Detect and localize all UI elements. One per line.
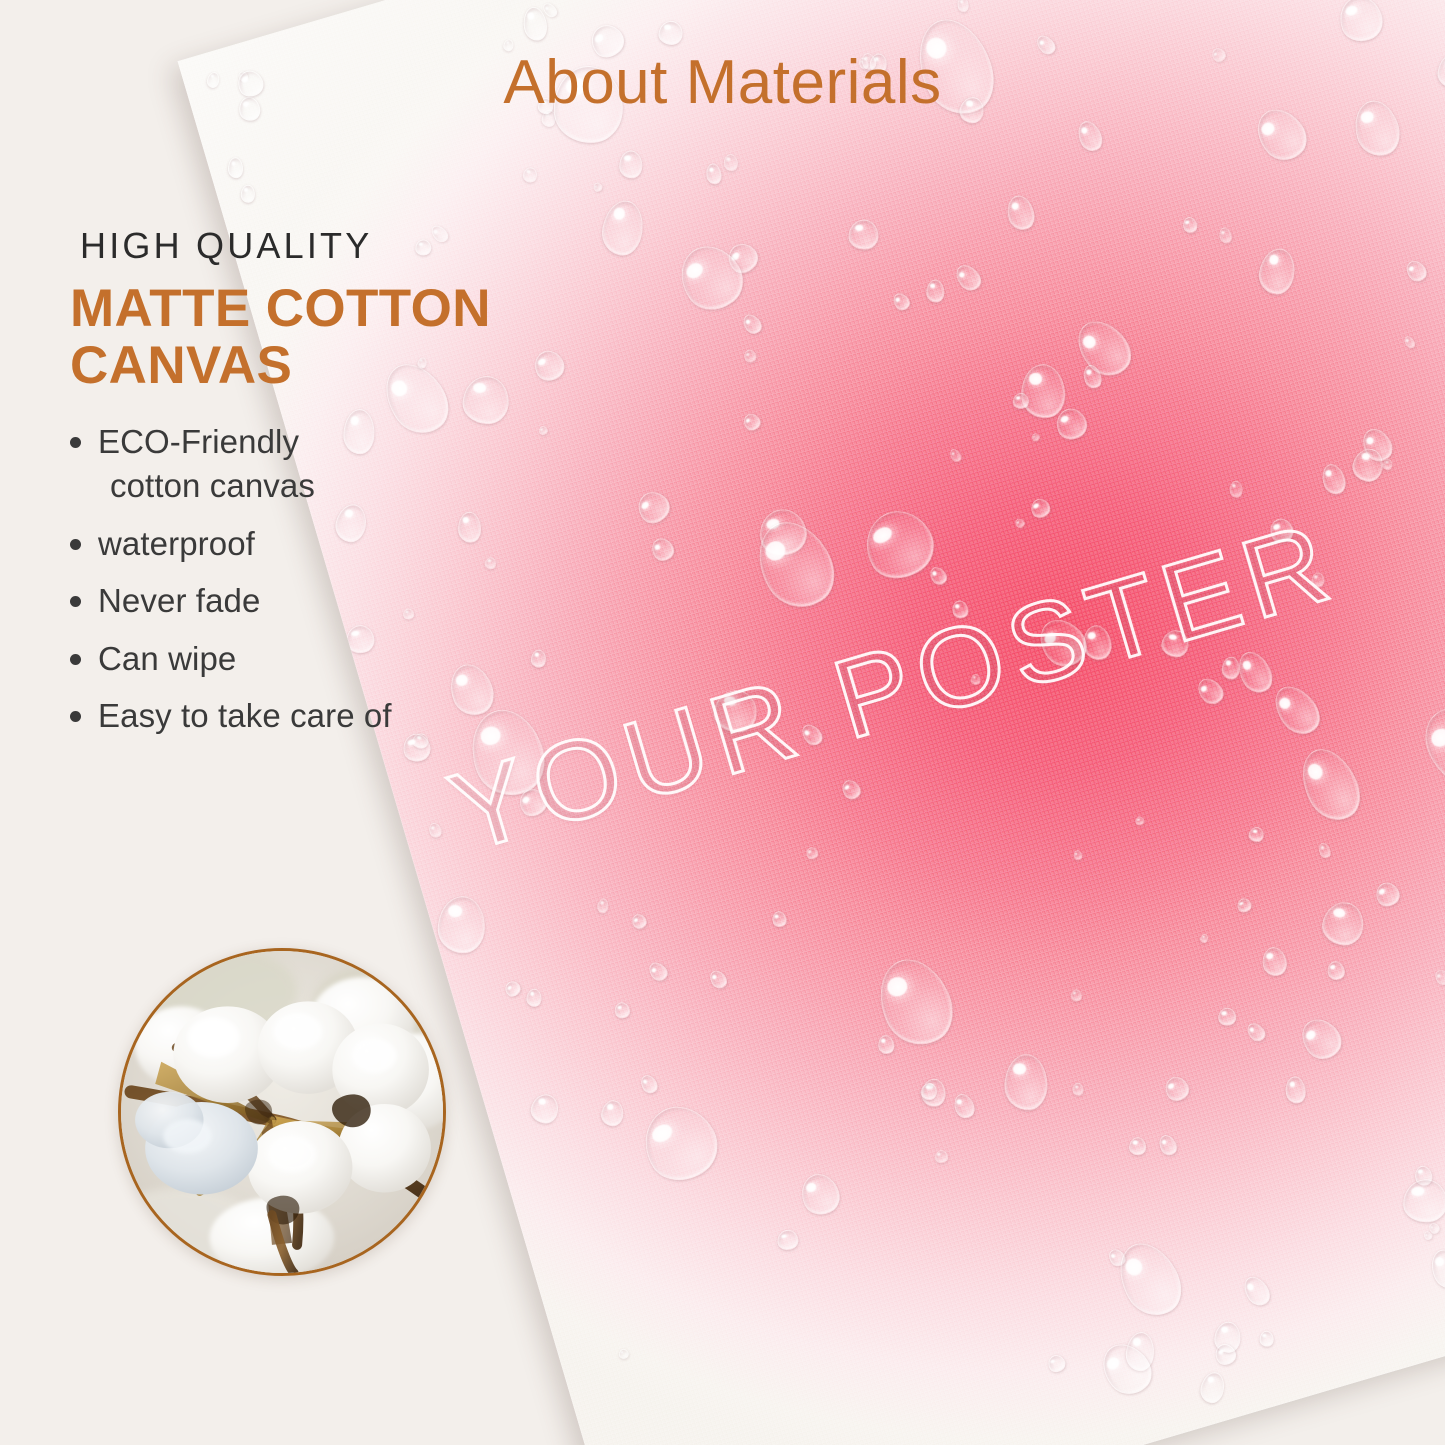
- water-droplet: [612, 1001, 632, 1021]
- water-droplet: [1105, 1246, 1128, 1270]
- water-droplet: [1212, 1341, 1239, 1369]
- water-droplet: [591, 181, 603, 193]
- bullet-dot-icon: [70, 437, 81, 448]
- water-droplet: [1092, 1334, 1160, 1403]
- water-droplet: [740, 411, 763, 434]
- feature-list-item: Easy to take care of: [70, 694, 590, 738]
- infographic-canvas: YOUR POSTER About Materials HIGH QUALITY…: [0, 0, 1445, 1445]
- water-droplet: [1426, 1245, 1445, 1293]
- water-droplet: [705, 163, 724, 186]
- water-droplet: [1318, 461, 1348, 497]
- water-droplet: [1256, 246, 1298, 297]
- water-droplet: [668, 234, 754, 321]
- feature-list-item: Never fade: [70, 579, 590, 623]
- water-droplet: [1259, 945, 1289, 979]
- water-droplet: [877, 1034, 897, 1057]
- water-droplet: [1409, 693, 1445, 796]
- water-droplet: [527, 988, 542, 1006]
- water-droplet: [951, 261, 985, 296]
- eyebrow-high-quality: HIGH QUALITY: [80, 228, 590, 264]
- water-droplet: [1199, 933, 1209, 944]
- page-title: About Materials: [0, 52, 1445, 114]
- water-droplet: [1239, 1272, 1275, 1310]
- water-droplet: [922, 1078, 946, 1106]
- water-droplet: [1217, 226, 1233, 245]
- water-droplet: [1290, 740, 1369, 830]
- water-droplet: [1067, 312, 1141, 387]
- feature-text: ECO-Friendly: [98, 423, 299, 460]
- water-droplet: [956, 0, 969, 12]
- water-droplet: [528, 1092, 560, 1126]
- water-droplet: [1011, 391, 1030, 409]
- water-droplet: [522, 166, 538, 183]
- water-droplet: [1232, 646, 1278, 698]
- water-droplet: [1325, 958, 1347, 982]
- water-droplet: [1248, 826, 1265, 842]
- water-droplet: [618, 150, 642, 179]
- water-droplet: [754, 504, 812, 562]
- water-droplet: [1030, 431, 1042, 443]
- water-droplet: [521, 5, 549, 42]
- water-droplet: [427, 822, 443, 840]
- feature-text: waterproof: [98, 525, 255, 562]
- water-droplet: [743, 509, 847, 620]
- water-droplet: [1198, 1370, 1227, 1405]
- water-droplet: [637, 1072, 660, 1096]
- material-info-block: HIGH QUALITY MATTE COTTON CANVAS ECO-Fri…: [70, 228, 590, 752]
- water-droplet: [1357, 423, 1398, 466]
- water-droplet: [706, 967, 730, 992]
- water-droplet: [502, 978, 523, 999]
- cotton-boll-image: [121, 951, 443, 1273]
- water-droplet: [1372, 878, 1404, 911]
- water-droplet: [1155, 1132, 1179, 1158]
- water-droplet: [1081, 363, 1105, 391]
- water-droplet: [1319, 899, 1367, 948]
- water-droplet: [927, 564, 951, 589]
- water-droplet: [631, 486, 675, 530]
- water-droplet: [1403, 334, 1418, 350]
- water-droplet: [1229, 480, 1243, 498]
- feature-text: Never fade: [98, 582, 260, 619]
- water-droplet: [629, 911, 649, 932]
- cotton-photo-circle: [118, 948, 446, 1276]
- water-droplet: [1027, 495, 1054, 522]
- water-droplet: [739, 311, 764, 337]
- water-droplet: [1221, 657, 1239, 680]
- water-droplet: [658, 20, 683, 45]
- water-droplet: [541, 0, 560, 19]
- water-droplet: [920, 1082, 939, 1102]
- water-droplet: [933, 1149, 948, 1164]
- water-droplet: [1013, 516, 1026, 529]
- water-droplet: [742, 347, 759, 364]
- bullet-dot-icon: [70, 654, 81, 665]
- water-droplet: [926, 279, 945, 303]
- water-droplet: [1160, 1073, 1192, 1106]
- water-droplet: [853, 499, 944, 590]
- water-droplet: [890, 289, 914, 313]
- water-droplet: [1244, 1020, 1269, 1045]
- water-droplet: [1382, 458, 1394, 470]
- water-droplet: [617, 1347, 630, 1360]
- water-droplet: [1193, 674, 1229, 710]
- water-droplet: [1265, 677, 1328, 742]
- water-droplet: [1134, 816, 1145, 827]
- water-droplet: [1402, 256, 1430, 284]
- water-droplet: [775, 1227, 800, 1251]
- bullet-dot-icon: [70, 596, 81, 607]
- water-droplet: [1423, 1230, 1435, 1242]
- water-droplet: [947, 447, 963, 464]
- feature-list-item: Can wipe: [70, 637, 590, 681]
- water-droplet: [848, 218, 880, 250]
- water-droplet: [722, 238, 763, 279]
- water-droplet: [839, 776, 865, 802]
- feature-list: ECO-Friendlycotton canvaswaterproofNever…: [70, 420, 590, 737]
- water-droplet: [1051, 404, 1091, 445]
- water-droplet: [951, 1091, 978, 1121]
- water-droplet: [596, 898, 609, 914]
- water-droplet: [1180, 215, 1198, 234]
- water-droplet: [1045, 1352, 1068, 1375]
- feature-list-item: waterproof: [70, 522, 590, 566]
- water-droplet: [1259, 1330, 1275, 1347]
- water-droplet: [1073, 849, 1084, 861]
- water-droplet: [1213, 1321, 1241, 1353]
- water-droplet: [1349, 446, 1385, 484]
- water-droplet: [1107, 1233, 1192, 1326]
- water-droplet: [1128, 1136, 1147, 1156]
- water-droplet: [723, 153, 739, 172]
- water-droplet: [1004, 193, 1039, 233]
- water-droplet: [1412, 1164, 1433, 1187]
- feature-list-item: ECO-Friendlycotton canvas: [70, 420, 590, 507]
- water-droplet: [228, 157, 244, 178]
- water-droplet: [1401, 1177, 1445, 1223]
- water-droplet: [646, 959, 672, 985]
- water-droplet: [1293, 1011, 1348, 1066]
- feature-text-line2: cotton canvas: [98, 464, 590, 508]
- water-droplet: [630, 1093, 729, 1193]
- water-droplet: [648, 534, 678, 565]
- water-droplet: [1019, 363, 1067, 421]
- water-droplet: [1074, 117, 1106, 154]
- water-droplet: [599, 1098, 625, 1127]
- water-droplet: [437, 896, 485, 954]
- water-droplet: [1072, 1082, 1085, 1096]
- feature-text: Easy to take care of: [98, 697, 392, 734]
- water-droplet: [1125, 1331, 1155, 1372]
- water-droplet: [241, 185, 255, 203]
- water-droplet: [1217, 1006, 1238, 1027]
- water-droplet: [1432, 968, 1445, 988]
- water-droplet: [1334, 0, 1388, 47]
- bullet-dot-icon: [70, 711, 81, 722]
- water-droplet: [1004, 1053, 1049, 1110]
- water-droplet: [1069, 989, 1082, 1003]
- water-droplet: [866, 949, 964, 1057]
- water-droplet: [1316, 841, 1332, 860]
- water-droplet: [599, 198, 646, 258]
- material-heading: MATTE COTTON CANVAS: [70, 280, 570, 394]
- water-droplet: [804, 845, 820, 861]
- water-droplet: [1427, 1221, 1442, 1236]
- water-droplet: [795, 1168, 845, 1220]
- bullet-dot-icon: [70, 539, 81, 550]
- water-droplet: [1235, 896, 1254, 915]
- water-droplet: [770, 910, 788, 930]
- water-droplet: [1284, 1075, 1307, 1104]
- feature-text: Can wipe: [98, 640, 236, 677]
